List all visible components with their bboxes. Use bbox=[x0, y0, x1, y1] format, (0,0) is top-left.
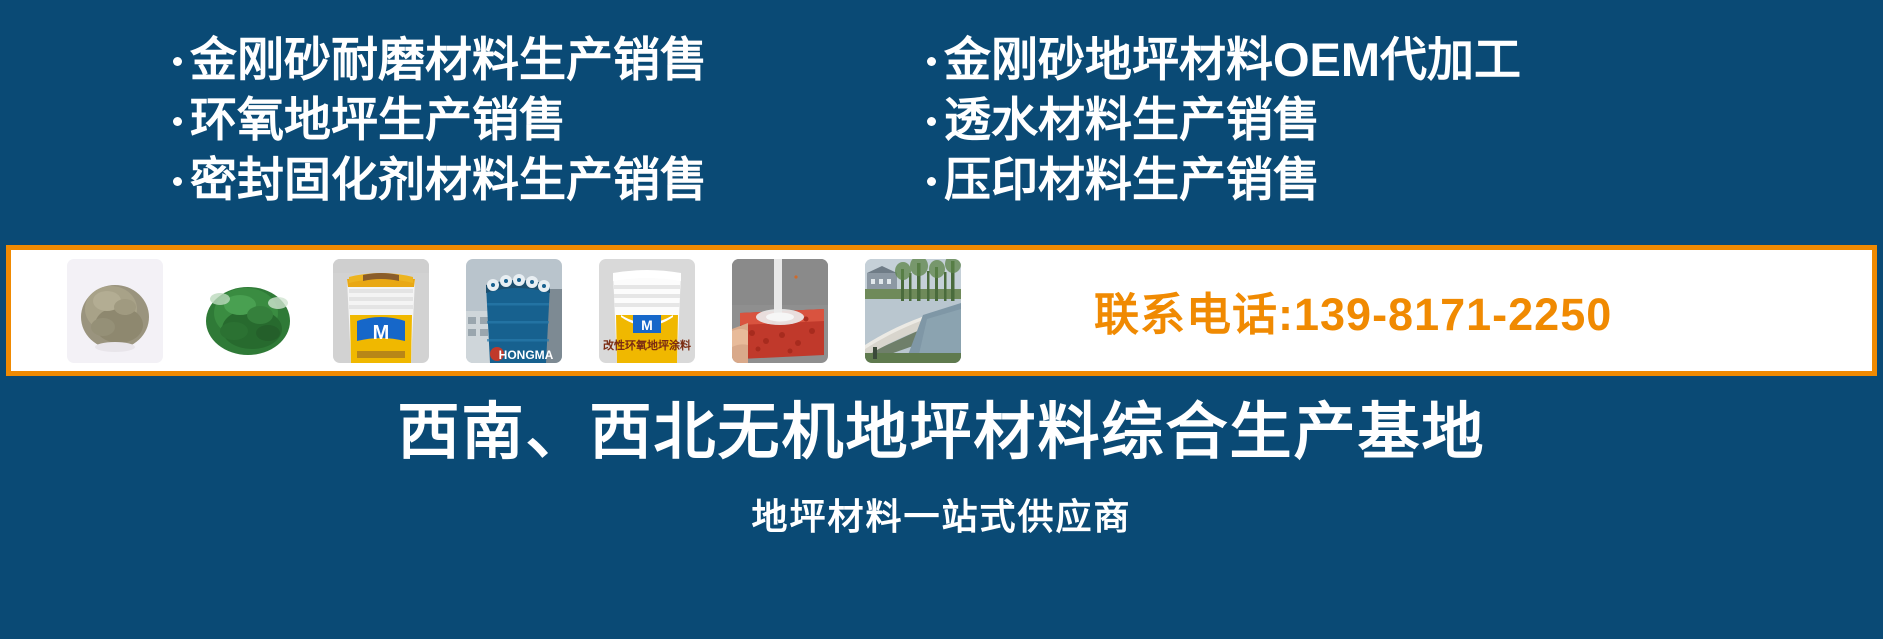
bullet-item: 金刚砂地坪材料OEM代加工 bbox=[926, 30, 1883, 90]
bullet-item: 环氧地坪生产销售 bbox=[172, 90, 880, 150]
product-thumbnail-list: M bbox=[11, 250, 998, 371]
svg-text:M: M bbox=[373, 322, 390, 344]
bullet-label: 压印材料生产销售 bbox=[944, 152, 1320, 208]
product-strip: M bbox=[6, 245, 1877, 376]
bullet-label: 金刚砂地坪材料OEM代加工 bbox=[944, 32, 1521, 88]
bullet-item: 压印材料生产销售 bbox=[926, 150, 1883, 210]
bullet-dot-icon bbox=[926, 113, 940, 127]
bullet-label: 透水材料生产销售 bbox=[944, 92, 1320, 148]
bullet-label: 密封固化剂材料生产销售 bbox=[190, 152, 707, 208]
svg-text:改性环氧地坪涂料: 改性环氧地坪涂料 bbox=[603, 338, 691, 352]
yellow-sealer-bucket-photo[interactable]: M bbox=[333, 259, 429, 363]
epoxy-coating-bucket-photo[interactable]: M 改性环氧地坪涂料 bbox=[599, 259, 695, 363]
bullet-dot-icon bbox=[926, 173, 940, 187]
gray-abrasive-powder-photo[interactable] bbox=[67, 259, 163, 363]
feature-bullets: 金刚砂耐磨材料生产销售 环氧地坪生产销售 密封固化剂材料生产销售 金刚砂地坪材料… bbox=[0, 0, 1883, 240]
permeable-pavement-path-photo[interactable] bbox=[865, 259, 961, 363]
subtitle: 地坪材料一站式供应商 bbox=[751, 488, 1131, 540]
bullet-column-left: 金刚砂耐磨材料生产销售 环氧地坪生产销售 密封固化剂材料生产销售 bbox=[0, 30, 880, 210]
blue-hongma-drum-photo[interactable]: HONGMA bbox=[466, 259, 562, 363]
main-headline: 西南、西北无机地坪材料综合生产基地 bbox=[397, 390, 1485, 476]
bullet-dot-icon bbox=[172, 113, 186, 127]
promotional-banner: 金刚砂耐磨材料生产销售 环氧地坪生产销售 密封固化剂材料生产销售 金刚砂地坪材料… bbox=[0, 0, 1883, 639]
bullet-dot-icon bbox=[172, 173, 186, 187]
green-abrasive-powder-photo[interactable] bbox=[200, 259, 296, 363]
bullet-label: 环氧地坪生产销售 bbox=[190, 92, 566, 148]
bullet-dot-icon bbox=[926, 53, 940, 67]
bullet-item: 金刚砂耐磨材料生产销售 bbox=[172, 30, 880, 90]
permeable-concrete-sample-photo[interactable] bbox=[732, 259, 828, 363]
svg-text:HONGMA: HONGMA bbox=[499, 348, 554, 362]
bullet-item: 透水材料生产销售 bbox=[926, 90, 1883, 150]
bullet-column-right: 金刚砂地坪材料OEM代加工 透水材料生产销售 压印材料生产销售 bbox=[880, 30, 1883, 210]
bullet-label: 金刚砂耐磨材料生产销售 bbox=[190, 32, 707, 88]
bullet-item: 密封固化剂材料生产销售 bbox=[172, 150, 880, 210]
bullet-dot-icon bbox=[172, 53, 186, 67]
footer-text-block: 西南、西北无机地坪材料综合生产基地 地坪材料一站式供应商 bbox=[0, 378, 1883, 639]
contact-phone[interactable]: 联系电话:139-8171-2250 bbox=[1094, 278, 1612, 343]
svg-text:M: M bbox=[641, 317, 653, 333]
